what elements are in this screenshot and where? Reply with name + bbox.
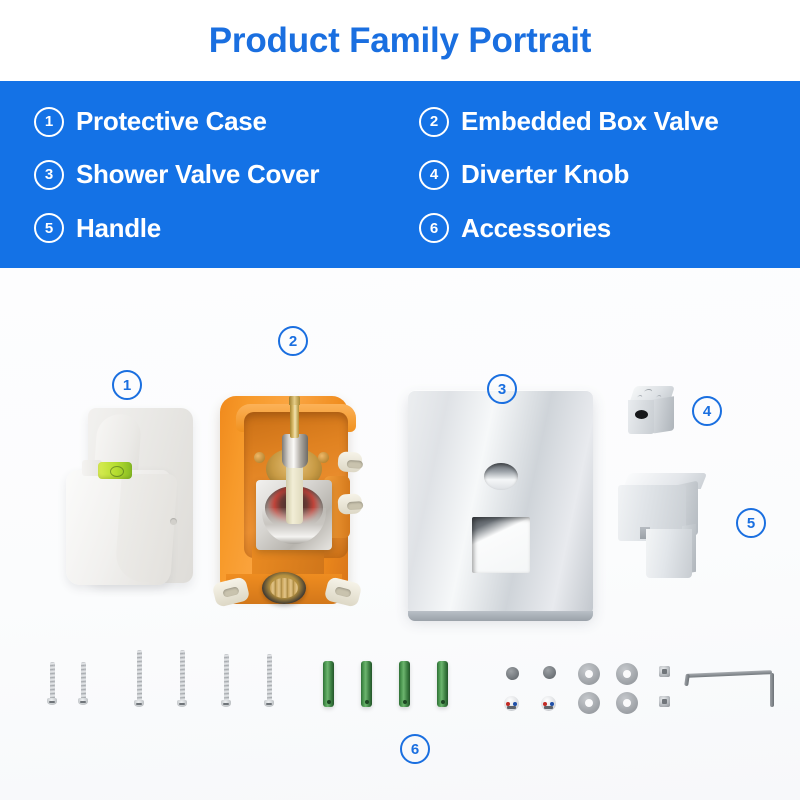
legend-grid: 1 Protective Case 2 Embedded Box Valve 3… xyxy=(34,95,800,255)
wall-anchor xyxy=(361,661,372,707)
wall-anchor xyxy=(437,661,448,707)
page-title: Product Family Portrait xyxy=(209,21,591,61)
screw-cap xyxy=(543,666,556,679)
washer xyxy=(616,663,638,685)
callout-4: 4 xyxy=(692,396,722,426)
screw-cap xyxy=(506,667,519,680)
legend-label-3: Shower Valve Cover xyxy=(76,159,319,190)
part-diverter-knob xyxy=(628,386,674,438)
callout-6: 6 xyxy=(400,734,430,764)
product-infographic: Product Family Portrait 1 Protective Cas… xyxy=(0,0,800,800)
indicator-bar xyxy=(544,706,553,709)
legend-badge-5: 5 xyxy=(34,213,64,243)
screw-head xyxy=(221,700,231,707)
legend-item-diverter-knob: 4 Diverter Knob xyxy=(419,159,800,190)
grub-screw xyxy=(659,666,670,677)
callout-1: 1 xyxy=(112,370,142,400)
part-embedded-box-valve xyxy=(208,368,368,618)
washer xyxy=(578,692,600,714)
legend-badge-4: 4 xyxy=(419,160,449,190)
screw-head xyxy=(134,700,144,707)
screw-shaft xyxy=(267,654,272,702)
title-bar: Product Family Portrait xyxy=(0,0,800,81)
legend-item-embedded-box-valve: 2 Embedded Box Valve xyxy=(419,106,800,137)
legend-label-1: Protective Case xyxy=(76,106,267,137)
valve-body xyxy=(220,396,348,592)
washer xyxy=(578,663,600,685)
legend-badge-6: 6 xyxy=(419,213,449,243)
screw-shaft xyxy=(81,662,86,700)
bubble-level xyxy=(98,462,132,479)
legend-label-5: Handle xyxy=(76,213,161,244)
part-handle xyxy=(618,473,728,578)
screw-head xyxy=(78,698,88,705)
legend-badge-1: 1 xyxy=(34,107,64,137)
legend-label-6: Accessories xyxy=(461,213,611,244)
part-protective-case xyxy=(66,408,202,593)
hex-key-tip xyxy=(684,674,690,686)
valve-chrome-neck xyxy=(282,434,308,468)
legend-item-shower-valve-cover: 3 Shower Valve Cover xyxy=(34,159,419,190)
valve-screw-right xyxy=(318,452,329,463)
part-shower-valve-cover xyxy=(408,390,593,615)
valve-brass-outlet xyxy=(262,572,306,604)
callout-5: 5 xyxy=(736,508,766,538)
cover-round-hole xyxy=(484,463,518,490)
cover-bottom-edge xyxy=(408,611,593,621)
callout-3: 3 xyxy=(487,374,517,404)
cover-square-hole xyxy=(472,517,530,573)
valve-mounting-ear-mid-right xyxy=(337,493,362,515)
case-screw-hole xyxy=(170,518,177,525)
wall-anchor xyxy=(323,661,334,707)
case-front-face xyxy=(114,474,178,582)
handle-lever xyxy=(646,529,692,578)
product-photo-stage: 1 2 xyxy=(0,268,800,800)
screw-head xyxy=(47,698,57,705)
legend-badge-3: 3 xyxy=(34,160,64,190)
legend-item-protective-case: 1 Protective Case xyxy=(34,106,419,137)
knob-set-screw-hole xyxy=(635,410,648,419)
valve-screw-left xyxy=(254,452,265,463)
legend-badge-2: 2 xyxy=(419,107,449,137)
legend-band: 1 Protective Case 2 Embedded Box Valve 3… xyxy=(0,81,800,268)
screw-shaft xyxy=(180,650,185,702)
hex-key-long-arm xyxy=(686,670,772,678)
part-accessories xyxy=(0,648,800,758)
legend-label-2: Embedded Box Valve xyxy=(461,106,719,137)
screw-shaft xyxy=(224,654,229,702)
valve-stem-tip xyxy=(289,396,300,405)
wall-anchor xyxy=(399,661,410,707)
valve-brass-stem xyxy=(290,402,299,438)
legend-item-accessories: 6 Accessories xyxy=(419,213,800,244)
legend-item-handle: 5 Handle xyxy=(34,213,419,244)
screw-shaft xyxy=(50,662,55,700)
washer xyxy=(616,692,638,714)
cartridge-plastic-post xyxy=(286,462,303,524)
hex-key-short-arm xyxy=(770,673,774,707)
screw-head xyxy=(177,700,187,707)
grub-screw xyxy=(659,696,670,707)
screw-head xyxy=(264,700,274,707)
screw-shaft xyxy=(137,650,142,702)
hot-cold-indicator-button xyxy=(504,696,519,711)
indicator-bar xyxy=(507,706,516,709)
legend-label-4: Diverter Knob xyxy=(461,159,629,190)
hot-cold-indicator-button xyxy=(541,696,556,711)
valve-mounting-ear-top-right xyxy=(337,451,362,473)
callout-2: 2 xyxy=(278,326,308,356)
knob-side-face xyxy=(652,396,674,433)
